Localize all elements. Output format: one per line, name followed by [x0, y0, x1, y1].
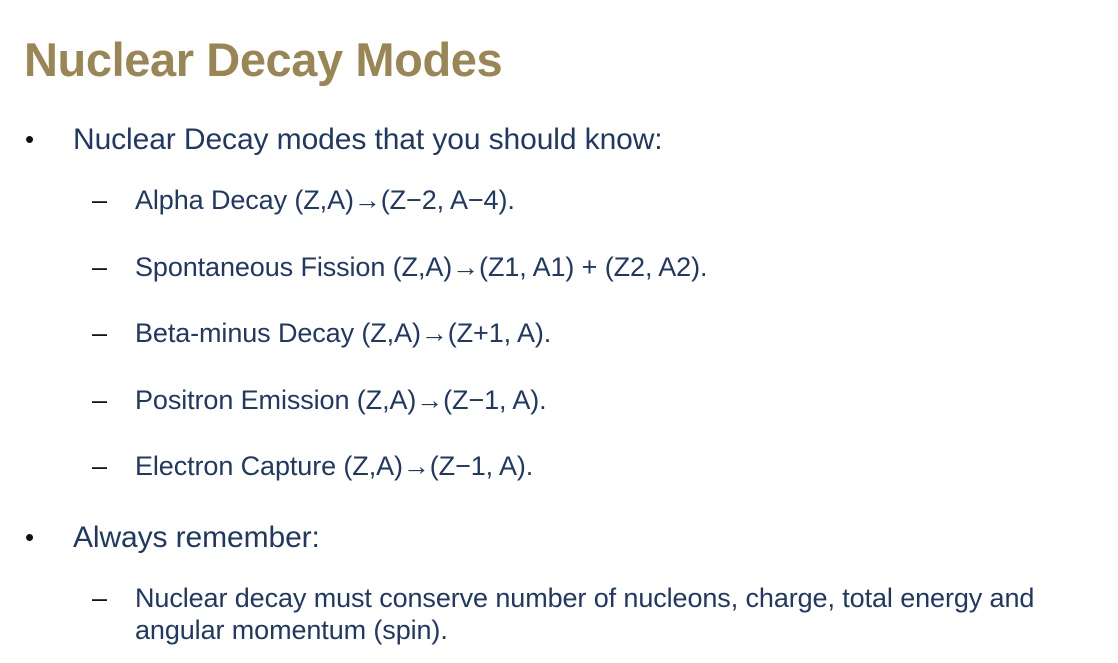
bullet-text: Alpha Decay (Z,A)→(Z−2, A−4). — [135, 185, 515, 215]
bullet-item-beta-minus-decay: – Beta-minus Decay (Z,A)→(Z+1, A). — [0, 317, 1118, 349]
bullet-item-spontaneous-fission: – Spontaneous Fission (Z,A)→(Z1, A1) + (… — [0, 251, 1118, 283]
bullet-dash-icon: – — [92, 450, 118, 482]
bullet-text: Electron Capture (Z,A)→(Z−1, A). — [135, 451, 533, 481]
bullet-dash-icon: – — [92, 251, 118, 283]
bullet-text: Always remember: — [73, 521, 320, 554]
bullet-text: Positron Emission (Z,A)→(Z−1, A). — [135, 385, 547, 415]
bullet-dot-icon: • — [25, 520, 45, 554]
page-title: Nuclear Decay Modes — [24, 33, 502, 88]
bullet-dash-icon: – — [92, 582, 118, 614]
bullet-item-always-remember: • Always remember: — [0, 520, 1118, 555]
bullet-dash-icon: – — [92, 184, 118, 216]
slide-body: • Nuclear Decay modes that you should kn… — [0, 122, 1118, 647]
bullet-item-alpha-decay: – Alpha Decay (Z,A)→(Z−2, A−4). — [0, 184, 1118, 216]
bullet-item-electron-capture: – Electron Capture (Z,A)→(Z−1, A). — [0, 450, 1118, 482]
bullet-text: Spontaneous Fission (Z,A)→(Z1, A1) + (Z2… — [135, 252, 707, 282]
slide-canvas: Nuclear Decay Modes • Nuclear Decay mode… — [0, 0, 1118, 663]
bullet-dot-icon: • — [25, 122, 45, 156]
bullet-item-nuclear-decay-modes: • Nuclear Decay modes that you should kn… — [0, 122, 1118, 157]
bullet-item-positron-emission: – Positron Emission (Z,A)→(Z−1, A). — [0, 384, 1118, 416]
bullet-text: Nuclear Decay modes that you should know… — [73, 123, 663, 156]
bullet-dash-icon: – — [92, 317, 118, 349]
bullet-item-conservation-rule: – Nuclear decay must conserve number of … — [0, 582, 1118, 647]
bullet-text: Nuclear decay must conserve number of nu… — [135, 582, 1100, 647]
bullet-dash-icon: – — [92, 384, 118, 416]
bullet-text: Beta-minus Decay (Z,A)→(Z+1, A). — [135, 318, 551, 348]
